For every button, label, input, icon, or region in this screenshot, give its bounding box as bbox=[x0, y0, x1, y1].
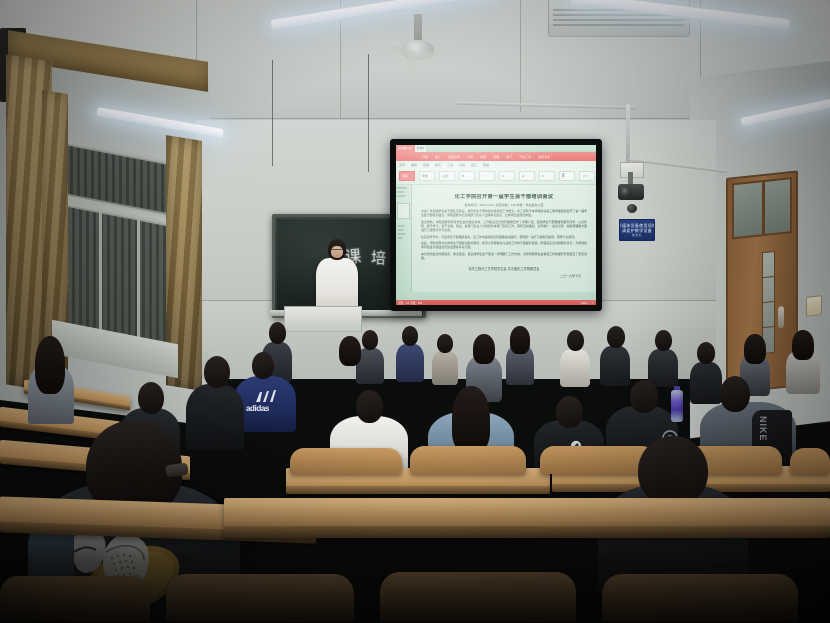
door-handle[interactable] bbox=[778, 306, 784, 329]
student-long-hair bbox=[28, 336, 74, 422]
document-page[interactable]: 化工学院召开第一届学生会干部培训会议 发布时间：2019-10-21 浏览次数：… bbox=[412, 185, 596, 292]
classroom-photo: 多媒体设备使用须知 请爱护教学设备 教务处 课 培 训 演讲稿.doc 文档1 … bbox=[0, 0, 830, 623]
presenter bbox=[316, 239, 358, 313]
menu-item[interactable]: 查看 bbox=[423, 163, 429, 167]
document-paragraph: 会议伊始，学院团委老师就学生会的组织架构、工作职责及日常管理规范作了详细介绍，强… bbox=[421, 221, 587, 233]
adidas-wordmark: adidas bbox=[246, 404, 286, 413]
navigation-pane[interactable] bbox=[396, 185, 412, 292]
document-paragraph: 本次培训会议内容充实、重点突出，使全体学生会干部进一步明确了工作方向，为新学期学… bbox=[421, 253, 587, 261]
water-bottle[interactable] bbox=[670, 386, 684, 422]
hanging-wire bbox=[272, 60, 273, 166]
ribbon-item[interactable]: 页面布局 bbox=[448, 155, 460, 159]
chair-back[interactable] bbox=[410, 446, 526, 474]
chair-back-foreground[interactable] bbox=[380, 572, 576, 622]
glasses-icon bbox=[165, 463, 188, 478]
projection-screen[interactable]: 演讲稿.doc 文档1 开始 插入 页面布局 引用 审阅 视图 章节 开发工具 … bbox=[390, 139, 602, 311]
ceiling-seam bbox=[520, 0, 521, 112]
document-paragraph: 最后，学院领导对全体学生干部提出殷切期望，希望大家能够在今后的工作中不断提升自我… bbox=[421, 242, 587, 250]
light-switch[interactable] bbox=[806, 295, 822, 317]
desk-foreground-center bbox=[224, 498, 830, 538]
document-meta: 发布时间：2019-10-21 浏览次数：128 作者：学生会办公室 bbox=[421, 203, 587, 207]
student bbox=[396, 326, 424, 380]
app-tab-secondary[interactable]: 文档1 bbox=[415, 145, 427, 152]
app-menubar: 文件 编辑 查看 格式 工具 表格 窗口 帮助 bbox=[396, 161, 596, 168]
chair-back[interactable] bbox=[790, 448, 830, 474]
menu-item[interactable]: 编辑 bbox=[411, 163, 417, 167]
ceiling-seam bbox=[196, 118, 716, 119]
save-button[interactable]: 保存 bbox=[399, 171, 415, 181]
ribbon-item[interactable]: 开始 bbox=[422, 155, 428, 159]
chalkboard-character: 培 bbox=[370, 247, 386, 269]
wall-sign-line-3: 教务处 bbox=[632, 233, 642, 238]
chair-back-foreground[interactable] bbox=[166, 574, 354, 622]
document-paragraph: 在互动环节中，与会学生干部踊跃发言，就工作中遇到的实际困难提出疑问，老师逐一进行… bbox=[421, 236, 587, 240]
student bbox=[432, 334, 458, 382]
ceiling-pipe-drop bbox=[626, 104, 630, 166]
ribbon-item[interactable]: 引用 bbox=[467, 155, 473, 159]
ribbon-item[interactable]: 审阅 bbox=[480, 155, 486, 159]
camera-dome-icon bbox=[627, 204, 637, 213]
adidas-logo-icon bbox=[254, 390, 278, 403]
student bbox=[560, 330, 590, 384]
document-paragraph: 为进一步加强学生会干部队伍建设，提升学生干部的综合素质和工作能力，化工学院于本学… bbox=[421, 210, 587, 218]
menu-item[interactable]: 帮助 bbox=[483, 163, 489, 167]
text-color-button[interactable]: A bbox=[519, 171, 535, 181]
glasses-icon bbox=[331, 249, 343, 253]
menu-item[interactable]: 文件 bbox=[399, 163, 405, 167]
statusbar-left: 页面：1/1 字数：863 bbox=[398, 301, 422, 305]
document-title: 化工学院召开第一届学生会干部培训会议 bbox=[421, 194, 587, 201]
student bbox=[600, 326, 630, 384]
app-titlebar: 演讲稿.doc 文档1 bbox=[396, 145, 596, 152]
nav-thumbnail[interactable] bbox=[397, 203, 410, 219]
door-transom-window bbox=[732, 177, 792, 239]
menu-item[interactable]: 窗口 bbox=[471, 163, 477, 167]
chair-back[interactable] bbox=[290, 448, 402, 474]
ribbon-item[interactable]: 插入 bbox=[435, 155, 441, 159]
ribbon-item[interactable]: 视图 bbox=[493, 155, 499, 159]
hanging-wire bbox=[368, 54, 369, 172]
font-size-select[interactable]: 小四 bbox=[439, 171, 455, 181]
menu-item[interactable]: 表格 bbox=[459, 163, 465, 167]
ribbon-item[interactable]: 章节 bbox=[506, 155, 512, 159]
ribbon-item[interactable]: 开发工具 bbox=[519, 155, 531, 159]
menu-item[interactable]: 工具 bbox=[447, 163, 453, 167]
wall-notice-sign: 多媒体设备使用须知 请爱护教学设备 教务处 bbox=[619, 219, 655, 241]
app-toolbar: 保存 宋体 小四 B I U A ≡ ≣ ⋮≡ ∷ bbox=[396, 168, 596, 185]
presenter-head bbox=[328, 239, 346, 260]
app-ribbon: 开始 插入 页面布局 引用 审阅 视图 章节 开发工具 会员专享 bbox=[396, 152, 596, 161]
ribbon-item[interactable]: 会员专享 bbox=[538, 155, 550, 159]
document-signature: 化学工程与工艺学院学生会 共青团化工学院委员会 bbox=[421, 266, 587, 271]
statusbar-zoom[interactable]: 100% － ＋ bbox=[581, 301, 594, 305]
document-area: 化工学院召开第一届学生会干部培训会议 发布时间：2019-10-21 浏览次数：… bbox=[396, 185, 596, 292]
menu-item[interactable]: 格式 bbox=[435, 163, 441, 167]
italic-button[interactable]: I bbox=[479, 171, 495, 181]
security-camera-icon bbox=[618, 184, 644, 200]
backpack-wordmark: NIKE bbox=[758, 416, 768, 442]
underline-button[interactable]: U bbox=[499, 171, 515, 181]
align-center-button[interactable]: ≣ bbox=[559, 171, 575, 181]
align-left-button[interactable]: ≡ bbox=[539, 171, 555, 181]
bullet-list-button[interactable]: ⋮≡ bbox=[579, 171, 595, 181]
chair-back-foreground[interactable] bbox=[602, 574, 798, 622]
app-tab-active[interactable]: 演讲稿.doc bbox=[396, 145, 415, 152]
chair-back-foreground[interactable] bbox=[0, 576, 150, 622]
student bbox=[506, 326, 534, 382]
bold-button[interactable]: B bbox=[459, 171, 475, 181]
font-family-select[interactable]: 宋体 bbox=[419, 171, 435, 181]
document-date: 二〇一九年十月 bbox=[421, 274, 587, 278]
front-desk bbox=[284, 306, 362, 332]
student bbox=[648, 330, 678, 384]
